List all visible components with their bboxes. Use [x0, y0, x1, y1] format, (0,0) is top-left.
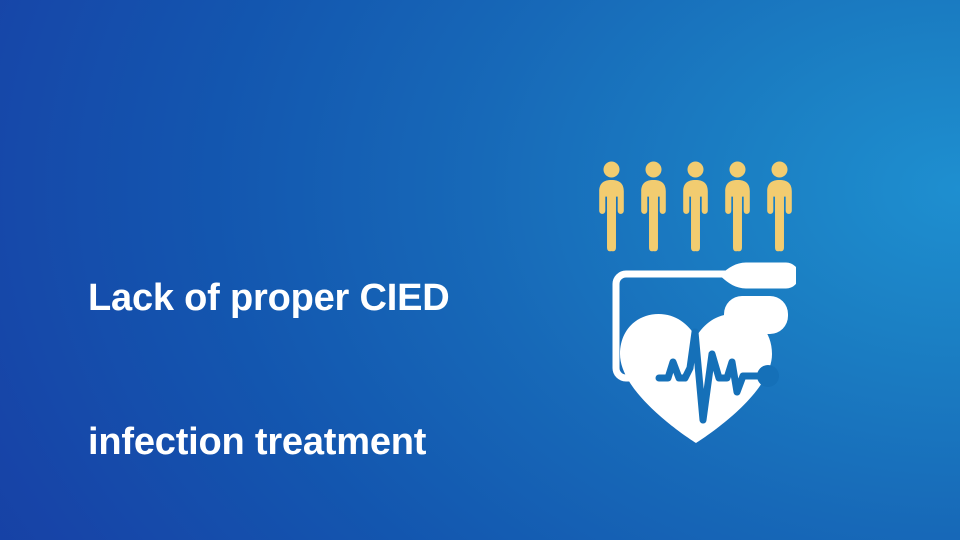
pacemaker-header-icon	[721, 263, 796, 289]
headline-line-1: Lack of proper CIED	[88, 274, 528, 322]
person-icon-4	[722, 160, 753, 252]
headline-text: Lack of proper CIED infection treatment …	[88, 178, 528, 540]
person-icon-1	[596, 160, 627, 252]
pacemaker-heart-graphic	[596, 258, 796, 450]
ecg-endpoint-dot	[757, 365, 779, 387]
people-row	[596, 160, 796, 252]
person-icon-3	[680, 160, 711, 252]
people-pacemaker-heart-illustration	[596, 160, 816, 450]
headline-line-2: infection treatment	[88, 418, 528, 466]
person-icon-5	[764, 160, 795, 252]
slide-canvas: Lack of proper CIED infection treatment …	[0, 0, 960, 540]
person-icon-2	[638, 160, 669, 252]
